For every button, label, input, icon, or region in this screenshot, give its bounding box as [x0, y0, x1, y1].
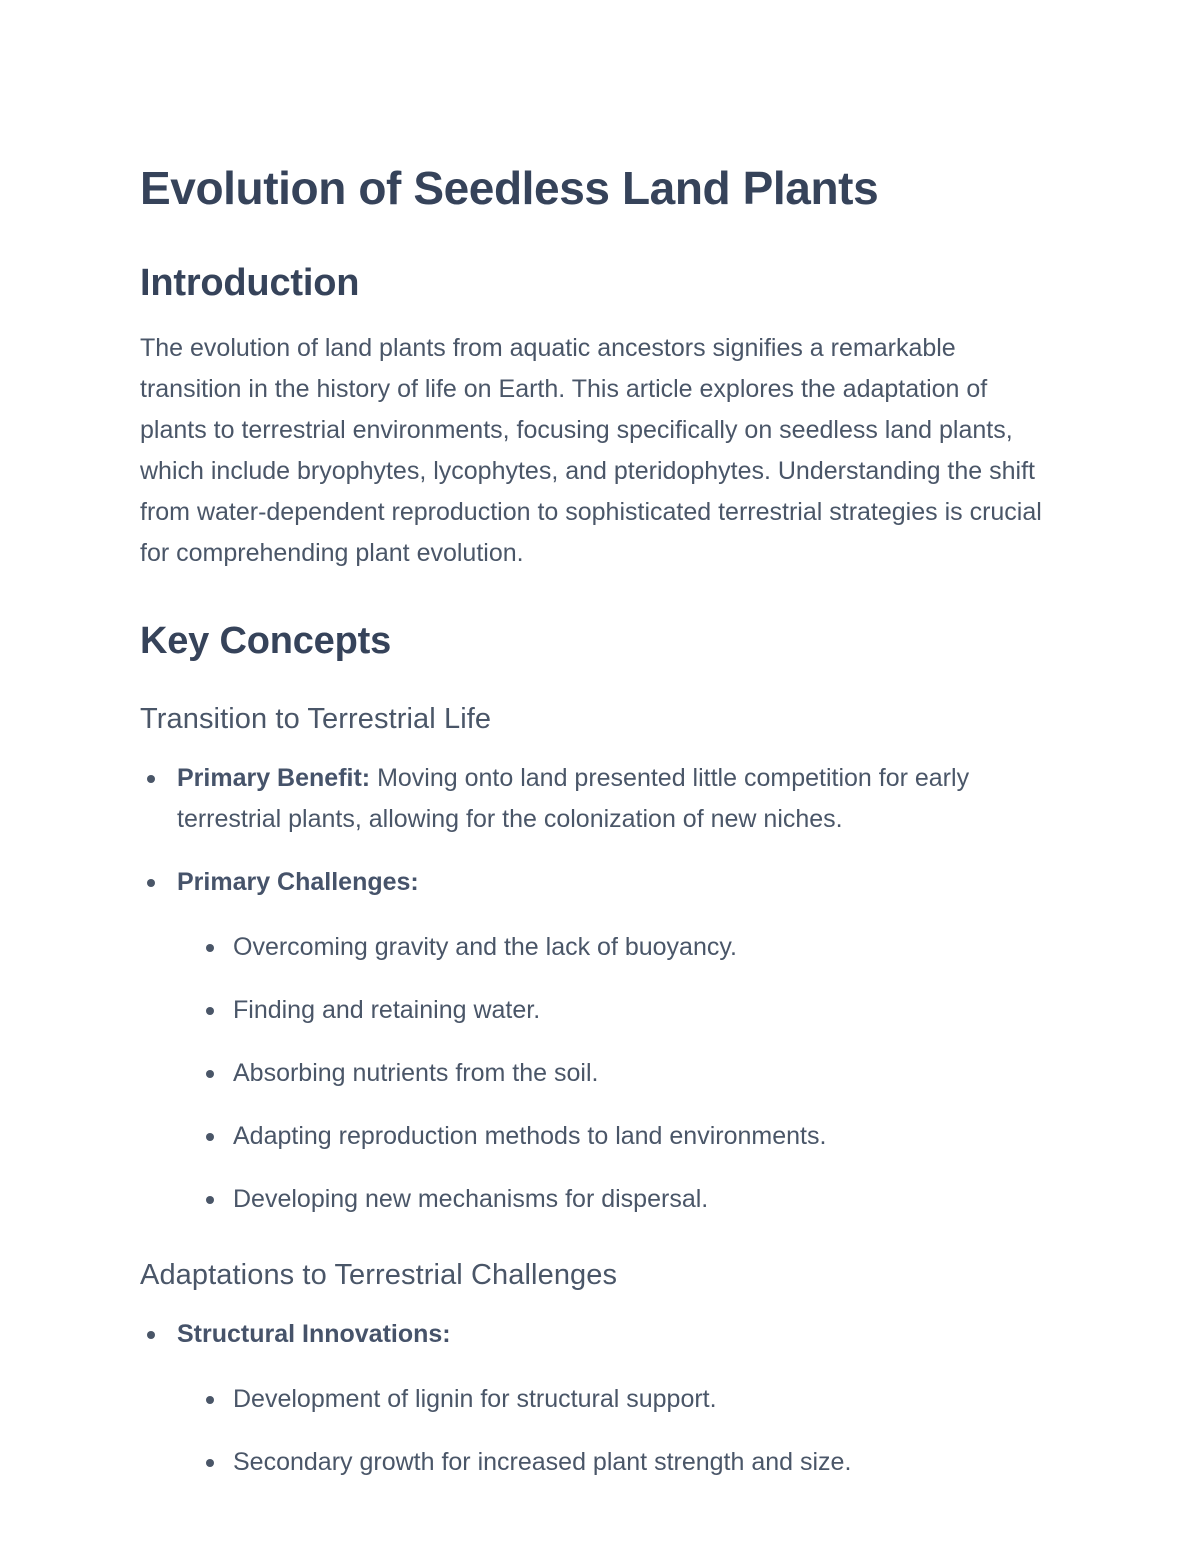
section-heading-key-concepts: Key Concepts	[140, 618, 1057, 664]
bullet-list-adaptations: Structural Innovations: Development of l…	[140, 1314, 1057, 1483]
sub-bullet-list-primary-challenges: Overcoming gravity and the lack of buoya…	[177, 927, 1057, 1220]
bullet-lead-label: Primary Benefit:	[177, 764, 370, 792]
bullet-marker-icon	[206, 1133, 214, 1141]
bullet-marker-icon	[206, 944, 214, 952]
subsection-heading-transition-to-terrestrial-life: Transition to Terrestrial Life	[140, 700, 1057, 738]
bullet-marker-icon	[147, 1331, 155, 1339]
list-item: Primary Benefit: Moving onto land presen…	[145, 758, 1057, 840]
sub-bullet-list-structural-innovations: Development of lignin for structural sup…	[177, 1379, 1057, 1483]
list-item: Adapting reproduction methods to land en…	[203, 1116, 1057, 1157]
list-item: Developing new mechanisms for dispersal.	[203, 1179, 1057, 1220]
sub-bullet-text: Overcoming gravity and the lack of buoya…	[233, 933, 737, 961]
section-heading-introduction: Introduction	[140, 260, 1057, 306]
bullet-marker-icon	[206, 1396, 214, 1404]
sub-bullet-text: Absorbing nutrients from the soil.	[233, 1059, 598, 1087]
bullet-marker-icon	[206, 1196, 214, 1204]
sub-bullet-text: Developing new mechanisms for dispersal.	[233, 1185, 708, 1213]
sub-bullet-text: Adapting reproduction methods to land en…	[233, 1122, 826, 1150]
sub-bullet-text: Development of lignin for structural sup…	[233, 1385, 717, 1413]
list-item: Finding and retaining water.	[203, 990, 1057, 1031]
bullet-marker-icon	[206, 1007, 214, 1015]
list-item: Absorbing nutrients from the soil.	[203, 1053, 1057, 1094]
subsection-heading-adaptations-to-terrestrial-challenges: Adaptations to Terrestrial Challenges	[140, 1256, 1057, 1294]
list-item: Structural Innovations: Development of l…	[145, 1314, 1057, 1483]
list-item: Overcoming gravity and the lack of buoya…	[203, 927, 1057, 968]
bullet-marker-icon	[206, 1070, 214, 1078]
bullet-list-transition: Primary Benefit: Moving onto land presen…	[140, 758, 1057, 1220]
list-item: Development of lignin for structural sup…	[203, 1379, 1057, 1420]
document-title: Evolution of Seedless Land Plants	[140, 160, 1057, 216]
list-item: Primary Challenges: Overcoming gravity a…	[145, 862, 1057, 1220]
list-item: Secondary growth for increased plant str…	[203, 1442, 1057, 1483]
document-page: Evolution of Seedless Land Plants Introd…	[0, 0, 1200, 1553]
sub-bullet-text: Secondary growth for increased plant str…	[233, 1448, 851, 1476]
bullet-marker-icon	[147, 879, 155, 887]
bullet-marker-icon	[206, 1459, 214, 1467]
bullet-marker-icon	[147, 775, 155, 783]
bullet-lead-label: Structural Innovations:	[177, 1320, 451, 1348]
bullet-lead-label: Primary Challenges:	[177, 868, 419, 896]
sub-bullet-text: Finding and retaining water.	[233, 996, 540, 1024]
introduction-paragraph: The evolution of land plants from aquati…	[140, 328, 1057, 574]
